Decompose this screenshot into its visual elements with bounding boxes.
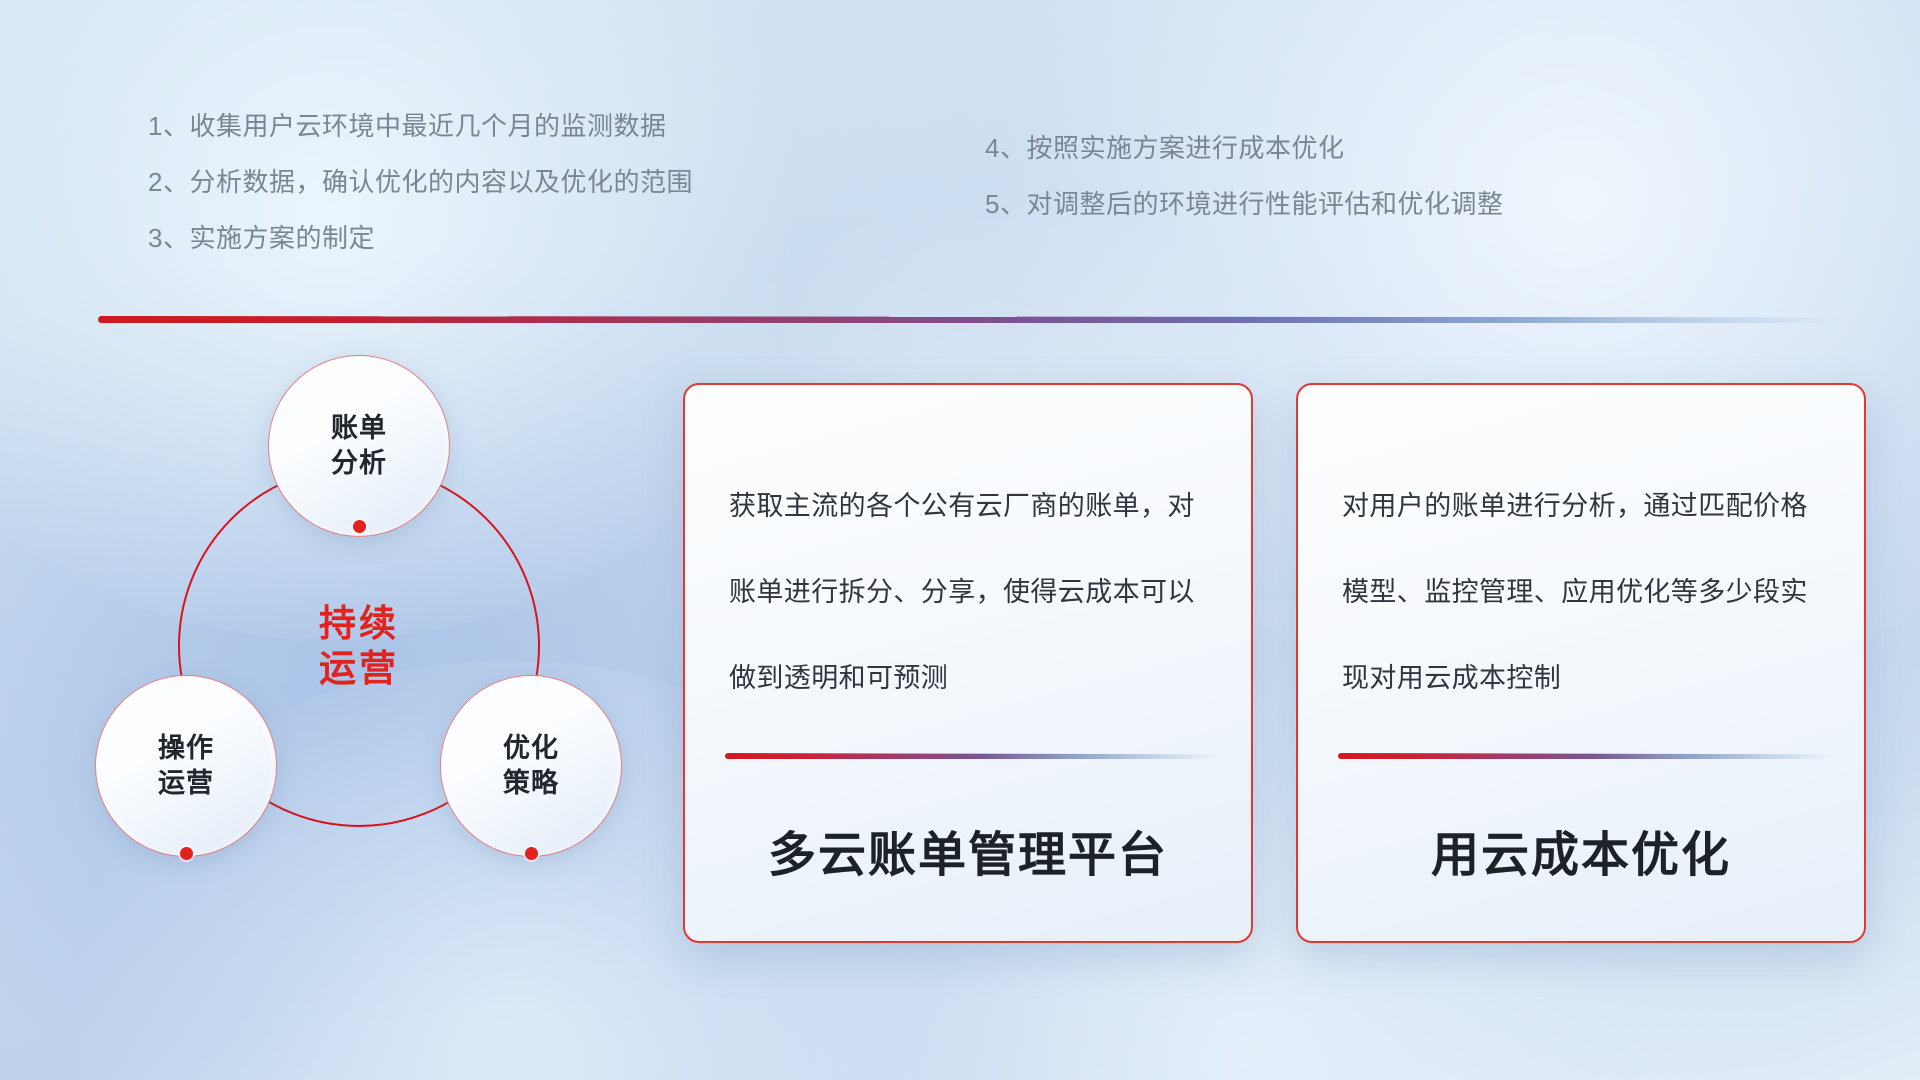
list-item: 3、实施方案的制定 [148, 210, 693, 266]
steps-left-column: 1、收集用户云环境中最近几个月的监测数据 2、分析数据，确认优化的内容以及优化的… [148, 98, 693, 266]
list-item: 4、按照实施方案进行成本优化 [985, 120, 1503, 176]
venn-node-label-line1: 操作 [158, 733, 214, 763]
card-body-text: 获取主流的各个公有云厂商的账单，对账单进行拆分、分享，使得云成本可以做到透明和可… [729, 463, 1215, 721]
venn-node-label-line2: 策略 [503, 768, 559, 798]
list-item: 2、分析数据，确认优化的内容以及优化的范围 [148, 154, 693, 210]
list-item: 1、收集用户云环境中最近几个月的监测数据 [148, 98, 693, 154]
venn-node-bill-analysis[interactable]: 账单 分析 [268, 355, 450, 537]
venn-node-label-line1: 账单 [331, 413, 387, 443]
feature-card-cloud-cost-optimization[interactable]: 对用户的账单进行分析，通过匹配价格模型、监控管理、应用优化等多少段实现对用云成本… [1296, 383, 1866, 943]
venn-node-label-line2: 运营 [158, 768, 214, 798]
card-title: 用云成本优化 [1298, 815, 1864, 885]
section-divider-rule [98, 316, 1838, 323]
venn-node-optimization-strategy[interactable]: 优化 策略 [440, 675, 622, 857]
steps-right-column: 4、按照实施方案进行成本优化 5、对调整后的环境进行性能评估和优化调整 [985, 120, 1503, 232]
venn-connector-dot-bottom-left [180, 847, 193, 860]
card-divider-rule [725, 753, 1217, 759]
venn-connector-dot-bottom-right [525, 847, 538, 860]
venn-node-label-line1: 优化 [503, 733, 559, 763]
card-title: 多云账单管理平台 [685, 815, 1251, 885]
venn-diagram: 持续 运营 账单 分析 操作 运营 优化 策略 [95, 355, 625, 925]
slide-root: 1、收集用户云环境中最近几个月的监测数据 2、分析数据，确认优化的内容以及优化的… [0, 0, 1920, 1080]
venn-connector-dot-top [353, 520, 366, 533]
list-item: 5、对调整后的环境进行性能评估和优化调整 [985, 176, 1503, 232]
card-body-text: 对用户的账单进行分析，通过匹配价格模型、监控管理、应用优化等多少段实现对用云成本… [1342, 463, 1828, 721]
card-divider-rule [1338, 753, 1830, 759]
feature-card-multicloud-billing[interactable]: 获取主流的各个公有云厂商的账单，对账单进行拆分、分享，使得云成本可以做到透明和可… [683, 383, 1253, 943]
venn-node-operations[interactable]: 操作 运营 [95, 675, 277, 857]
venn-node-label-line2: 分析 [331, 448, 387, 478]
